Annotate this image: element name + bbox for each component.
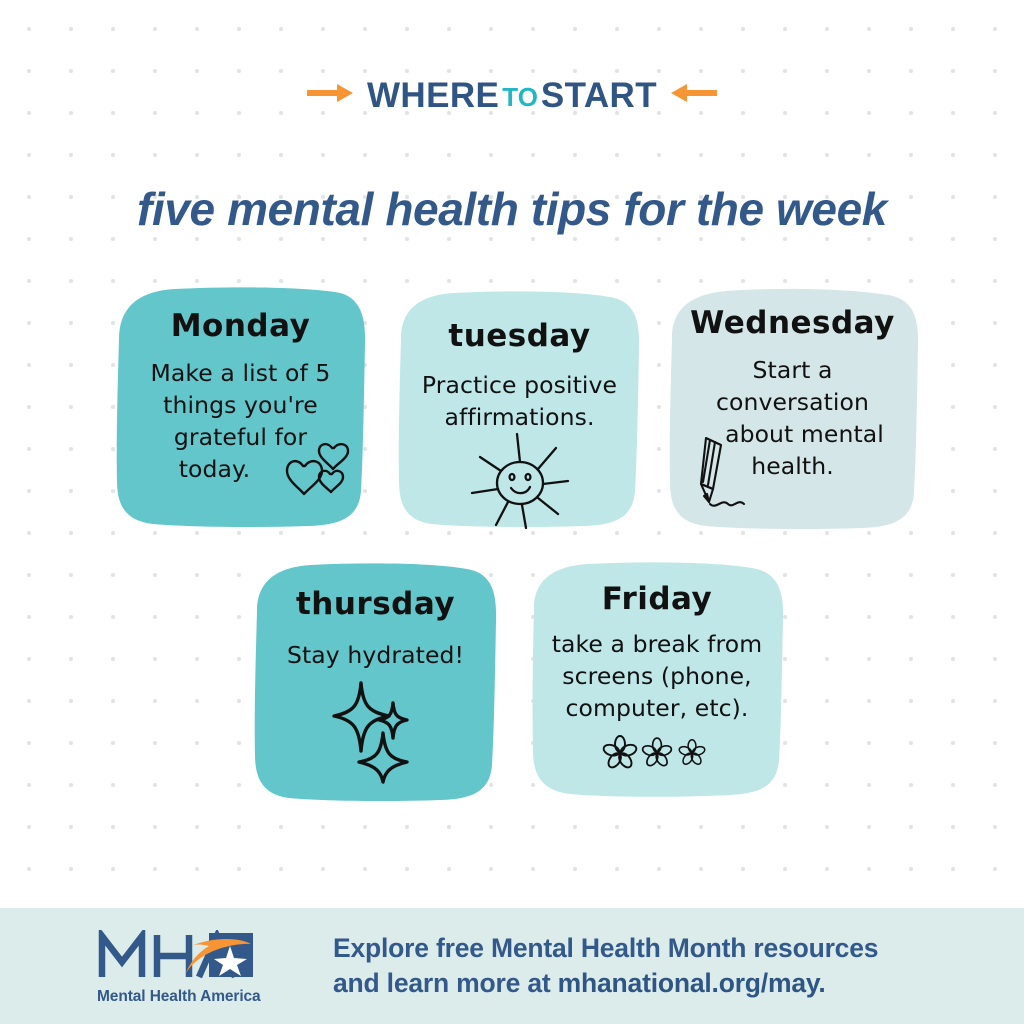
mha-logo-mark — [97, 930, 255, 980]
mha-logo[interactable]: Mental Health America — [97, 930, 261, 1006]
card-body-line: Stay hydrated! — [287, 640, 464, 672]
card-day-thursday: thursday — [296, 589, 455, 620]
card-body-tuesday: Practice positive affirmations. — [422, 370, 617, 434]
eyebrow-word-start: START — [541, 76, 657, 115]
footer-line-2-prefix: and learn more at — [333, 968, 558, 998]
card-body-line: take a break from — [552, 629, 763, 661]
footer-line-2: and learn more at mhanational.org/may. — [333, 966, 878, 1001]
pencil-doodle — [692, 434, 760, 514]
card-body-line: screens (phone, — [552, 661, 763, 693]
card-body-line: computer, etc). — [552, 693, 763, 725]
card-body-line: Practice positive — [422, 370, 617, 402]
card-body-line: Make a list of 5 — [151, 358, 331, 390]
tip-card-friday: Friday take a break from screens (phone,… — [528, 560, 786, 800]
card-day-wednesday: Wednesday — [690, 308, 895, 339]
card-day-tuesday: tuesday — [448, 321, 590, 352]
eyebrow-banner: WHERETOSTART — [0, 78, 1024, 113]
sparkles-doodle — [331, 679, 423, 785]
eyebrow-word-where: WHERE — [367, 76, 499, 115]
tip-card-monday: Monday Make a list of 5 things you're gr… — [113, 285, 368, 529]
arrow-right-icon — [307, 82, 353, 109]
tip-card-tuesday: tuesday Practice positive affirmations. — [396, 289, 643, 528]
mha-logo-subtitle: Mental Health America — [97, 988, 261, 1006]
footer-url-link[interactable]: mhanational.org/may. — [558, 968, 826, 998]
eyebrow-word-to: TO — [499, 82, 541, 112]
tip-card-thursday: thursday Stay hydrated! — [251, 561, 500, 804]
poster-canvas: WHERETOSTART five mental health tips for… — [0, 0, 1024, 1024]
arrow-left-icon — [671, 82, 717, 109]
page-title: five mental health tips for the week — [0, 182, 1024, 236]
eyebrow-text: WHERETOSTART — [367, 78, 657, 113]
card-body-line: Start a — [701, 355, 884, 387]
tip-card-wednesday: Wednesday Start a conversation about men… — [664, 286, 921, 531]
footer-line-1: Explore free Mental Health Month resourc… — [333, 931, 878, 966]
card-body-friday: take a break from screens (phone, comput… — [552, 629, 763, 725]
footer-copy: Explore free Mental Health Month resourc… — [333, 931, 878, 1001]
card-body-line: things you're — [151, 390, 331, 422]
card-body-thursday: Stay hydrated! — [287, 640, 464, 672]
card-day-friday: Friday — [602, 584, 712, 615]
card-body-line: today. — [151, 454, 279, 486]
hearts-doodle — [283, 440, 355, 502]
card-day-monday: Monday — [171, 311, 311, 342]
flowers-doodle — [602, 735, 712, 771]
card-body-line: conversation — [701, 387, 884, 419]
sun-smiley-doodle — [468, 429, 572, 529]
